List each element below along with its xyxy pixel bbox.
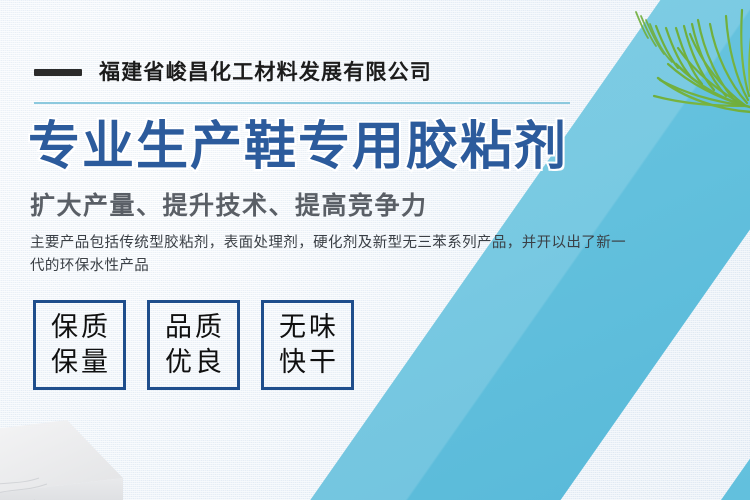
banner-content: 福建省峻昌化工材料发展有限公司 专业生产鞋专用胶粘剂 扩大产量、提升技术、提高竞… (0, 0, 750, 500)
feature-box-row: 保质 保量 品质 优良 无味 快干 (33, 300, 354, 390)
feature-box: 无味 快干 (261, 300, 354, 390)
divider-rule (34, 102, 570, 104)
dash-mark-icon (34, 69, 82, 76)
feature-line-2: 优良 (162, 345, 225, 380)
feature-line-1: 保质 (48, 310, 111, 345)
feature-box: 品质 优良 (147, 300, 240, 390)
feature-line-1: 品质 (162, 310, 225, 345)
company-name-row: 福建省峻昌化工材料发展有限公司 (34, 62, 432, 83)
promo-banner: 福建省峻昌化工材料发展有限公司 专业生产鞋专用胶粘剂 扩大产量、提升技术、提高竞… (0, 0, 750, 500)
headline: 专业生产鞋专用胶粘剂 (28, 120, 568, 175)
subheadline: 扩大产量、提升技术、提高竞争力 (30, 192, 428, 221)
feature-box: 保质 保量 (33, 300, 126, 390)
description-text: 主要产品包括传统型胶粘剂，表面处理剂，硬化剂及新型无三苯系列产品，并开以出了新一… (30, 232, 630, 278)
feature-line-2: 保量 (48, 345, 111, 380)
feature-line-1: 无味 (276, 310, 339, 345)
feature-line-2: 快干 (276, 345, 339, 380)
company-name: 福建省峻昌化工材料发展有限公司 (99, 62, 432, 83)
